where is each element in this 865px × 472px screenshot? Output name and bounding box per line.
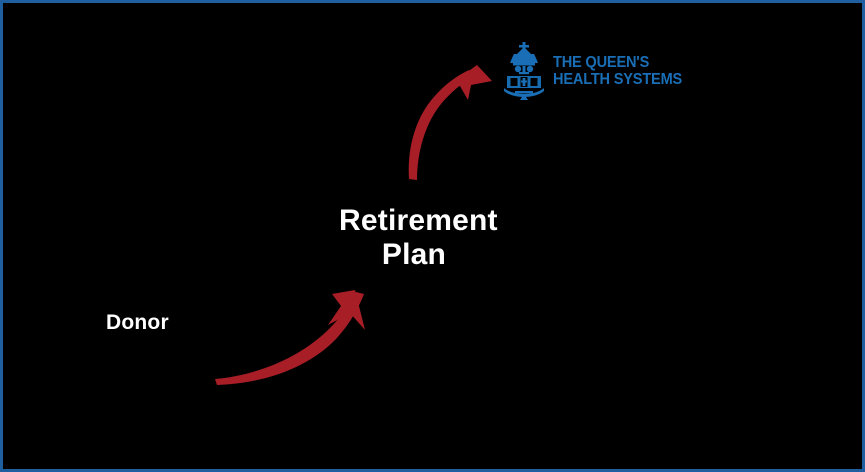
queens-health-systems-logo: THE QUEEN'S HEALTH SYSTEMS bbox=[501, 41, 686, 101]
plan-to-organization-arrow bbox=[409, 65, 492, 180]
queens-wordmark-line2: HEALTH SYSTEMS bbox=[553, 71, 682, 88]
queens-wordmark: THE QUEEN'S HEALTH SYSTEMS bbox=[553, 54, 682, 89]
donor-label: Donor bbox=[106, 311, 169, 335]
retirement-plan-line2: Plan bbox=[382, 238, 446, 271]
retirement-plan-line1: Retirement bbox=[339, 204, 498, 237]
queens-wordmark-line1: THE QUEEN'S bbox=[553, 54, 682, 71]
donor-to-plan-arrow bbox=[215, 290, 365, 385]
slide-canvas: Donor Retirement Plan bbox=[0, 0, 865, 472]
queens-crest-icon bbox=[501, 42, 547, 100]
retirement-plan-label: Retirement Plan bbox=[339, 204, 489, 271]
